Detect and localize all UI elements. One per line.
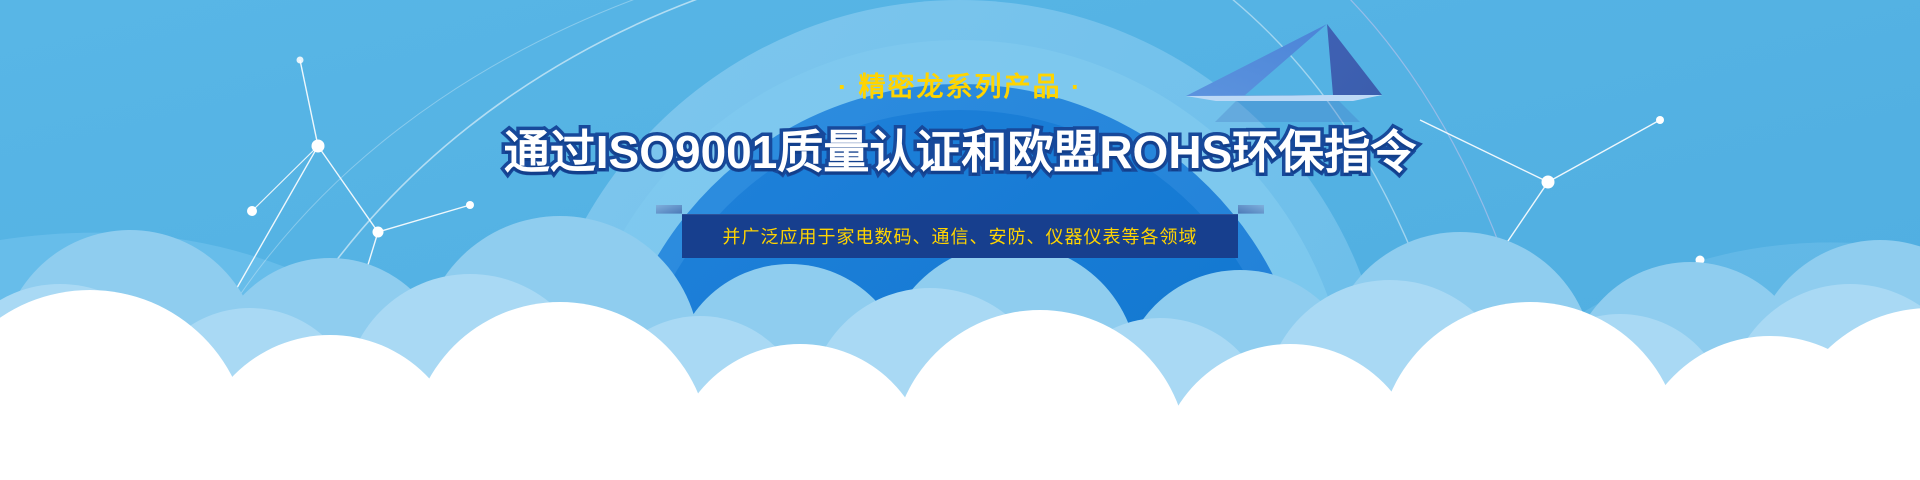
banner-ribbon: 并广泛应用于家电数码、通信、安防、仪器仪表等各领域 [682,214,1238,258]
ribbon-body: 并广泛应用于家电数码、通信、安防、仪器仪表等各领域 [682,214,1238,258]
promo-banner: · 精密龙系列产品 · 通过ISO9001质量认证和欧盟ROHS环保指令 并广泛… [0,0,1920,480]
ribbon-label: 并广泛应用于家电数码、通信、安防、仪器仪表等各领域 [723,223,1198,249]
ribbon-fold-left-icon [656,205,682,214]
banner-headline: 通过ISO9001质量认证和欧盟ROHS环保指令 [504,127,1416,178]
banner-eyebrow: · 精密龙系列产品 · [838,74,1082,101]
ribbon-fold-right-icon [1238,205,1264,214]
